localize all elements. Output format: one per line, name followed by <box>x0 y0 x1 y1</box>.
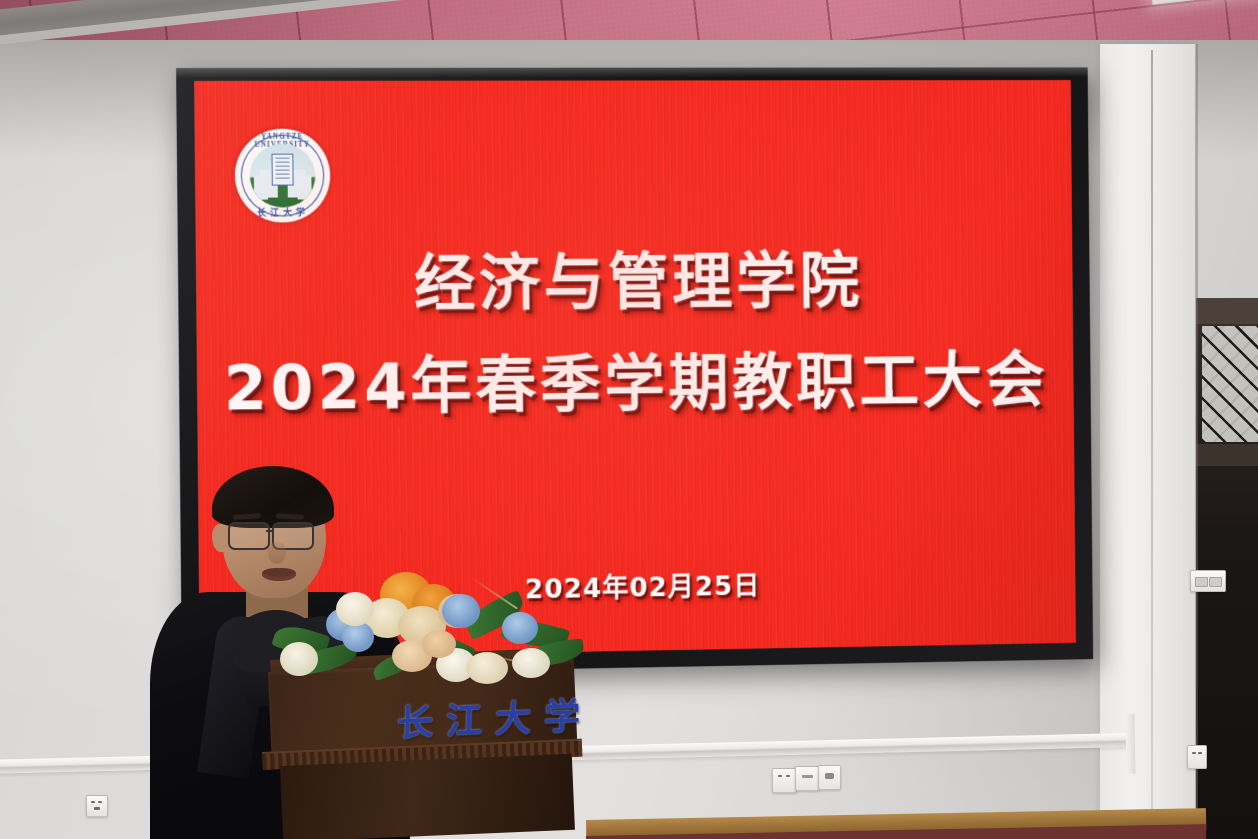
wall-outlet[interactable] <box>772 768 797 793</box>
podium-base <box>280 754 575 839</box>
door-header <box>1196 298 1258 324</box>
pillar-seam <box>1151 50 1153 838</box>
diamond-lattice-grille <box>1202 326 1258 442</box>
floral-arrangement <box>276 566 596 682</box>
light-switch-plate[interactable] <box>1190 570 1226 592</box>
conduit-riser <box>1125 714 1135 774</box>
wall-outlet[interactable] <box>1187 745 1207 769</box>
speaker-nose <box>268 542 286 564</box>
eyeglasses-bridge <box>266 530 274 532</box>
podium-nameplate-text: 长江大学 <box>397 687 594 747</box>
wall-outlet[interactable] <box>86 795 108 817</box>
wall-pillar <box>1100 44 1196 839</box>
speaker-ear <box>212 524 228 552</box>
wall-data-port[interactable] <box>818 765 841 790</box>
pillar-right-edge <box>1195 44 1198 839</box>
bezel-highlight <box>176 67 1088 78</box>
eyeglasses-lens-left <box>228 522 270 550</box>
wall-switch[interactable] <box>795 766 820 791</box>
conference-hall-photo: YANGTZE UNIVERSITY 长江大学 经济与管理学院 2024年春季学… <box>0 0 1258 839</box>
speaker-hair <box>212 466 334 528</box>
door-sill <box>1196 444 1258 466</box>
